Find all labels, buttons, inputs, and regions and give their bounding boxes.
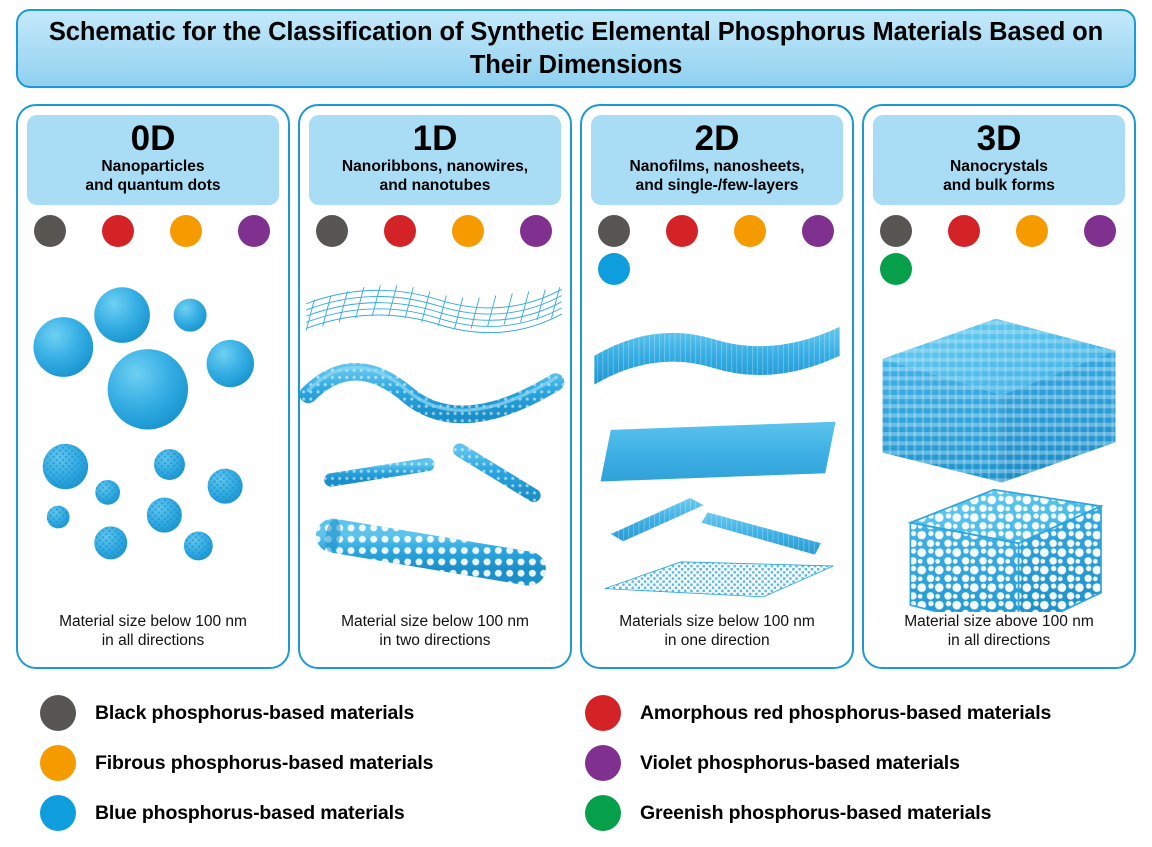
illustration-nanosheets <box>582 291 852 612</box>
column-header-0d: 0D Nanoparticles and quantum dots <box>27 115 279 205</box>
dot-fibrous-phosphorus <box>170 215 202 247</box>
dot-greenish-phosphorus <box>880 253 912 285</box>
dot-blue-phosphorus <box>598 253 630 285</box>
dot-black-phosphorus <box>598 215 630 247</box>
column-subtitle: Nanoparticles and quantum dots <box>31 158 275 196</box>
dot-row <box>582 253 852 285</box>
legend-dot-amorphous-red-phosphorus <box>585 695 621 731</box>
legend-dot-blue-phosphorus <box>40 795 76 831</box>
legend-label: Black phosphorus-based materials <box>95 702 414 725</box>
column-dimension-label: 3D <box>877 120 1121 157</box>
legend-item-fibrous-phosphorus: Fibrous phosphorus-based materials <box>40 745 585 781</box>
nanoparticles-svg <box>18 253 288 612</box>
title-banner: Schematic for the Classification of Synt… <box>16 9 1136 88</box>
dot-amorphous-red-phosphorus <box>948 215 980 247</box>
column-legend-dots-0d <box>18 205 288 253</box>
column-card-2d[interactable]: 2D Nanofilms, nanosheets, and single-/fe… <box>580 104 854 669</box>
column-header-2d: 2D Nanofilms, nanosheets, and single-/fe… <box>591 115 843 205</box>
legend-dot-fibrous-phosphorus <box>40 745 76 781</box>
legend-dot-violet-phosphorus <box>585 745 621 781</box>
column-footer-text: Materials size below 100 nm in one direc… <box>582 612 852 667</box>
nanowires-svg <box>300 253 570 612</box>
column-card-1d[interactable]: 1D Nanoribbons, nanowires, and nanotubes <box>298 104 572 669</box>
dot-fibrous-phosphorus <box>452 215 484 247</box>
dot-violet-phosphorus <box>520 215 552 247</box>
legend-label: Greenish phosphorus-based materials <box>640 802 991 825</box>
illustration-nanowires <box>300 253 570 612</box>
dot-violet-phosphorus <box>1084 215 1116 247</box>
dot-fibrous-phosphorus <box>1016 215 1048 247</box>
dot-amorphous-red-phosphorus <box>666 215 698 247</box>
dot-black-phosphorus <box>34 215 66 247</box>
column-header-1d: 1D Nanoribbons, nanowires, and nanotubes <box>309 115 561 205</box>
column-subtitle: Nanocrystals and bulk forms <box>877 158 1121 196</box>
legend-label: Fibrous phosphorus-based materials <box>95 752 433 775</box>
dot-row <box>864 253 1134 285</box>
legend-dot-greenish-phosphorus <box>585 795 621 831</box>
column-legend-dots-3d <box>864 205 1134 291</box>
column-dimension-label: 0D <box>31 120 275 157</box>
legend-item-amorphous-red-phosphorus: Amorphous red phosphorus-based materials <box>585 695 1130 731</box>
dot-violet-phosphorus <box>238 215 270 247</box>
legend-item-blue-phosphorus: Blue phosphorus-based materials <box>40 795 585 831</box>
dot-black-phosphorus <box>316 215 348 247</box>
column-footer-text: Material size below 100 nm in two direct… <box>300 612 570 667</box>
column-legend-dots-1d <box>300 205 570 253</box>
dot-row <box>300 215 570 247</box>
column-header-3d: 3D Nanocrystals and bulk forms <box>873 115 1125 205</box>
legend-item-black-phosphorus: Black phosphorus-based materials <box>40 695 585 731</box>
column-dimension-label: 2D <box>595 120 839 157</box>
legend-dot-black-phosphorus <box>40 695 76 731</box>
legend-label: Amorphous red phosphorus-based materials <box>640 702 1051 725</box>
dot-row <box>864 215 1134 247</box>
column-dimension-label: 1D <box>313 120 557 157</box>
dot-row <box>582 215 852 247</box>
page-title: Schematic for the Classification of Synt… <box>18 16 1134 81</box>
illustration-bulk-crystals <box>864 291 1134 612</box>
column-footer-text: Material size above 100 nm in all direct… <box>864 612 1134 667</box>
column-legend-dots-2d <box>582 205 852 291</box>
nanosheets-svg <box>582 291 852 612</box>
dot-black-phosphorus <box>880 215 912 247</box>
dot-amorphous-red-phosphorus <box>384 215 416 247</box>
legend-item-violet-phosphorus: Violet phosphorus-based materials <box>585 745 1130 781</box>
dot-row <box>18 215 288 247</box>
column-footer-text: Material size below 100 nm in all direct… <box>18 612 288 667</box>
column-subtitle: Nanofilms, nanosheets, and single-/few-l… <box>595 158 839 196</box>
column-card-3d[interactable]: 3D Nanocrystals and bulk forms <box>862 104 1136 669</box>
legend-label: Blue phosphorus-based materials <box>95 802 405 825</box>
legend-label: Violet phosphorus-based materials <box>640 752 960 775</box>
legend-item-greenish-phosphorus: Greenish phosphorus-based materials <box>585 795 1130 831</box>
bulk-crystals-svg <box>864 291 1134 612</box>
legend: Black phosphorus-based materials Amorpho… <box>40 688 1130 838</box>
dot-violet-phosphorus <box>802 215 834 247</box>
column-subtitle: Nanoribbons, nanowires, and nanotubes <box>313 158 557 196</box>
dot-amorphous-red-phosphorus <box>102 215 134 247</box>
dot-fibrous-phosphorus <box>734 215 766 247</box>
column-card-0d[interactable]: 0D Nanoparticles and quantum dots <box>16 104 290 669</box>
illustration-nanoparticles <box>18 253 288 612</box>
dimension-columns: 0D Nanoparticles and quantum dots <box>16 104 1136 669</box>
